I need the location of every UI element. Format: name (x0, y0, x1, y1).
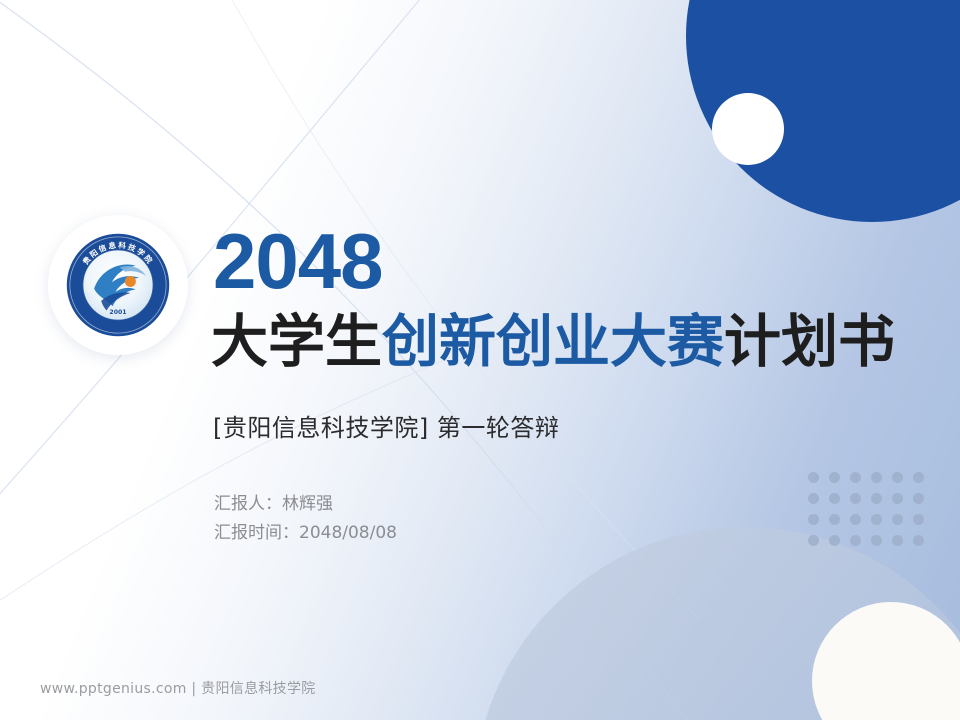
presenter-line: 汇报人：林辉强 (214, 490, 397, 519)
slide-headline: 大学生创新创业大赛计划书 (211, 311, 895, 375)
headline-segment-2: 计划书 (724, 309, 895, 375)
headline-segment-0: 大学生 (211, 309, 382, 375)
decorative-dot (913, 514, 924, 525)
university-logo: 贵阳信息科技学院 GUIYANG INSTITUTE OF INFORMATIO… (48, 215, 188, 355)
decorative-dot (913, 493, 924, 504)
slide-footer: www.pptgenius.com | 贵阳信息科技学院 (40, 678, 316, 698)
university-emblem-icon: 贵阳信息科技学院 GUIYANG INSTITUTE OF INFORMATIO… (65, 232, 171, 338)
presentation-meta: 汇报人：林辉强 汇报时间：2048/08/08 (214, 490, 397, 548)
title-slide: 贵阳信息科技学院 GUIYANG INSTITUTE OF INFORMATIO… (0, 0, 960, 720)
decorative-dot (913, 535, 924, 546)
date-line: 汇报时间：2048/08/08 (214, 519, 397, 548)
logo-founded-year: 2001 (109, 309, 126, 316)
slide-subtitle: [贵阳信息科技学院] 第一轮答辩 (213, 408, 559, 443)
headline-segment-1: 创新创业大赛 (382, 309, 724, 375)
title-text-block: 2048 大学生创新创业大赛计划书 [贵阳信息科技学院] 第一轮答辩 汇报人：林… (213, 0, 913, 720)
slide-year: 2048 (213, 222, 383, 300)
decorative-dot (913, 472, 924, 483)
